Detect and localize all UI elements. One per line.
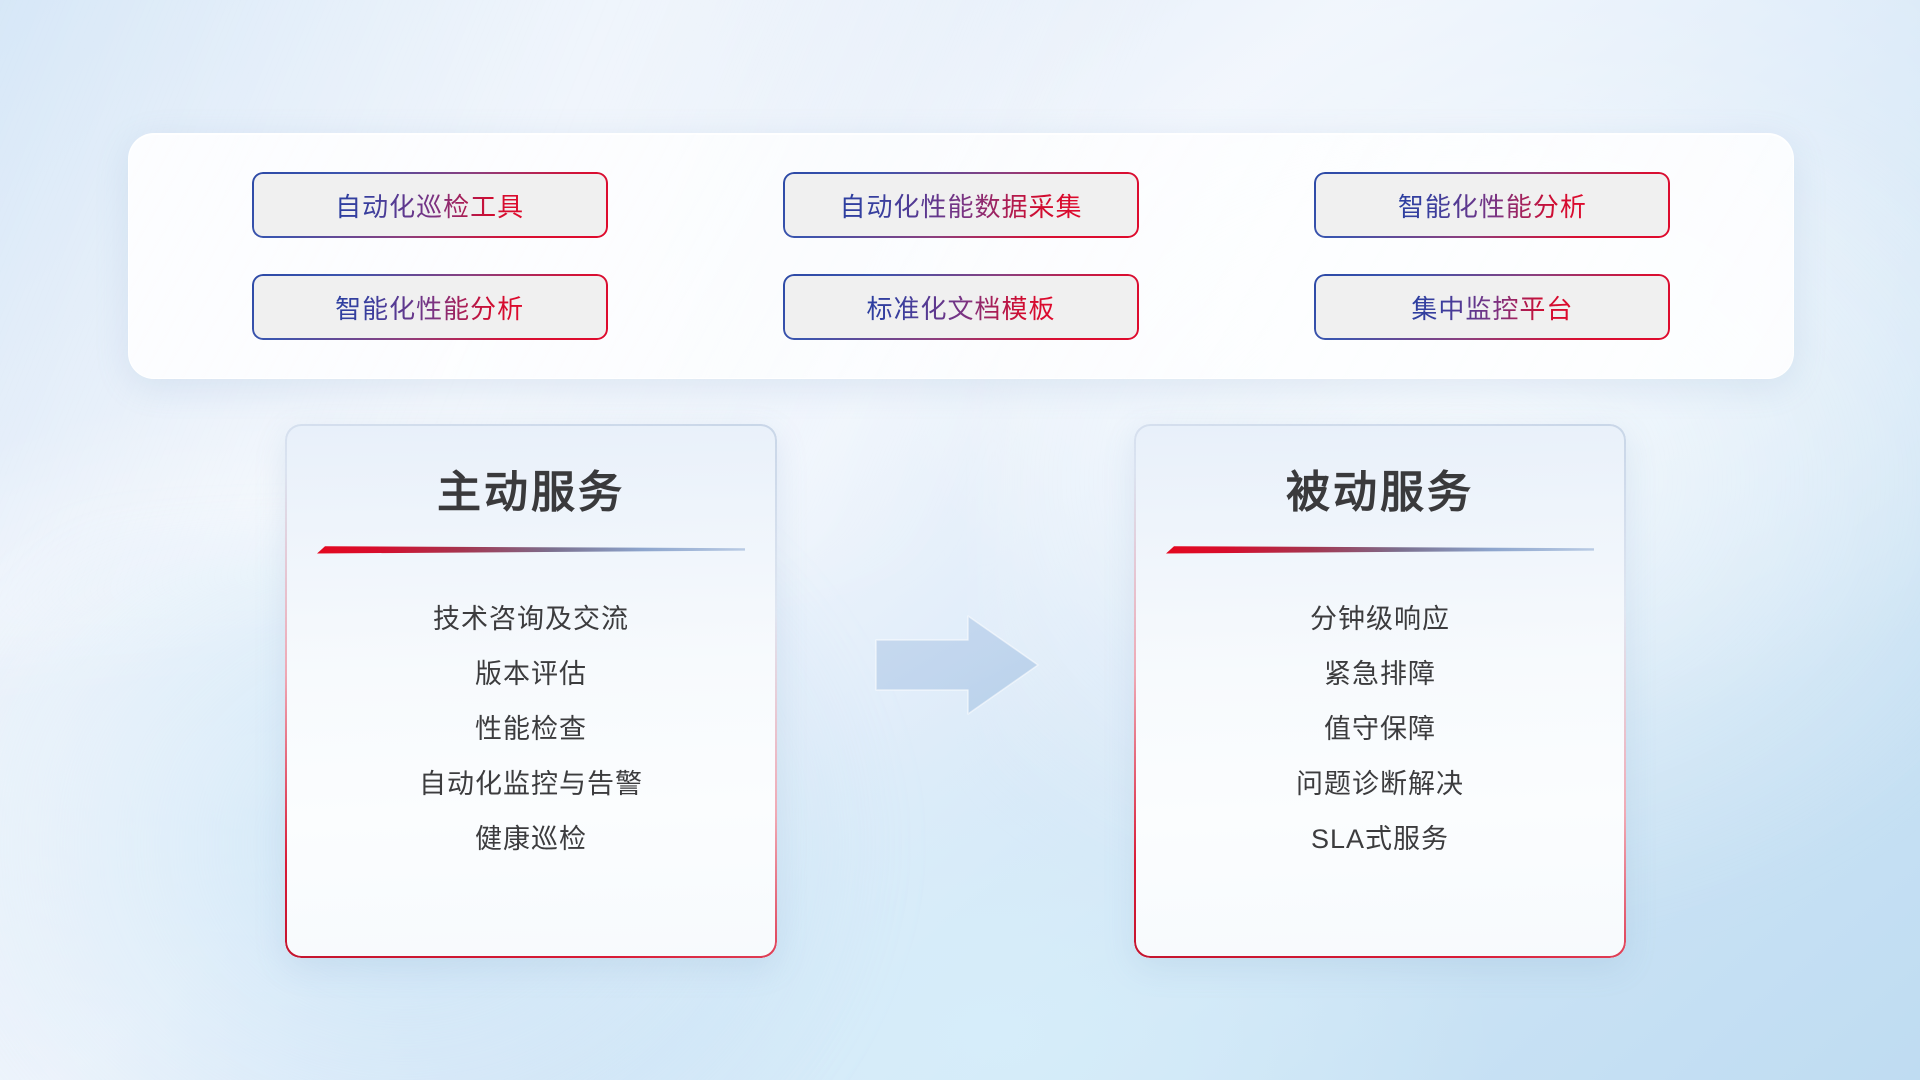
list-item: SLA式服务 [1134, 812, 1626, 867]
capability-pill-2-label: 自动化性能数据采集 [839, 187, 1082, 224]
list-item: 自动化监控与告警 [285, 757, 777, 812]
list-item: 技术咨询及交流 [285, 592, 777, 647]
capability-pill-1-label: 自动化巡检工具 [335, 187, 524, 224]
proactive-service-list: 技术咨询及交流 版本评估 性能检查 自动化监控与告警 健康巡检 [285, 592, 777, 867]
reactive-service-card[interactable]: 被动服务 分钟级响应 紧急排障 值守保障 [1134, 424, 1626, 958]
proactive-service-title: 主动服务 [285, 456, 777, 520]
list-item: 分钟级响应 [1134, 592, 1626, 647]
list-item: 问题诊断解决 [1134, 757, 1626, 812]
list-item: 值守保障 [1134, 702, 1626, 757]
list-item: 紧急排障 [1134, 647, 1626, 702]
reactive-service-list: 分钟级响应 紧急排障 值守保障 问题诊断解决 SLA式服务 [1134, 592, 1626, 867]
capability-pill-4-label: 智能化性能分析 [335, 289, 524, 326]
list-item: 版本评估 [285, 647, 777, 702]
capability-tags-panel: 自动化巡检工具 自动化性能数据采集 智能化性能分析 智能化性能分析 标准化文档模… [128, 133, 1794, 379]
list-item: 健康巡检 [285, 812, 777, 867]
reactive-service-divider [1166, 544, 1594, 556]
capability-pill-3[interactable]: 智能化性能分析 [1314, 172, 1670, 238]
proactive-service-divider [317, 544, 745, 556]
slide-canvas: 自动化巡检工具 自动化性能数据采集 智能化性能分析 智能化性能分析 标准化文档模… [0, 0, 1920, 1080]
flow-arrow-right-icon [872, 610, 1042, 720]
capability-pill-3-label: 智能化性能分析 [1398, 187, 1587, 224]
capability-pill-2[interactable]: 自动化性能数据采集 [783, 172, 1139, 238]
reactive-service-title: 被动服务 [1134, 456, 1626, 520]
capability-pill-1[interactable]: 自动化巡检工具 [252, 172, 608, 238]
capability-pill-5-label: 标准化文档模板 [866, 289, 1055, 326]
capability-pill-5[interactable]: 标准化文档模板 [783, 274, 1139, 340]
capability-pill-6[interactable]: 集中监控平台 [1314, 274, 1670, 340]
list-item: 性能检查 [285, 702, 777, 757]
capability-pill-6-label: 集中监控平台 [1411, 289, 1573, 326]
capability-pill-4[interactable]: 智能化性能分析 [252, 274, 608, 340]
proactive-service-card[interactable]: 主动服务 技术咨询及交流 版本评估 性能检查 [285, 424, 777, 958]
